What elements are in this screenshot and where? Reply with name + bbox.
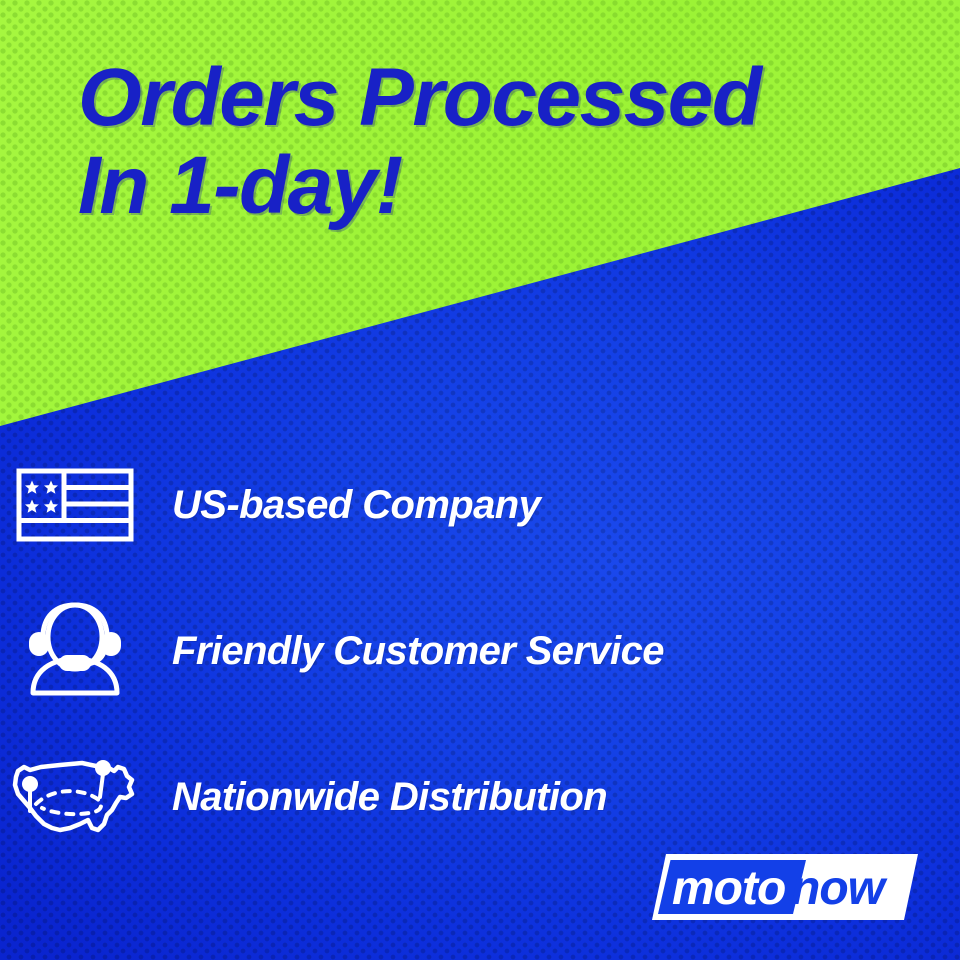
promo-banner: Orders Processed In 1-day! bbox=[0, 0, 960, 960]
feature-row: US-based Company bbox=[0, 432, 960, 578]
feature-label: US-based Company bbox=[172, 483, 540, 528]
motonow-logo[interactable]: moto now bbox=[636, 848, 918, 928]
headline: Orders Processed In 1-day! bbox=[78, 56, 938, 227]
feature-list: US-based Company bbox=[0, 432, 960, 870]
feature-row: Friendly Customer Service bbox=[0, 578, 960, 724]
feature-label: Friendly Customer Service bbox=[172, 629, 664, 674]
headset-icon bbox=[0, 599, 150, 703]
us-flag-icon bbox=[0, 468, 150, 542]
headline-line-2: In 1-day! bbox=[78, 144, 938, 228]
headline-line-1: Orders Processed bbox=[78, 56, 938, 140]
feature-label: Nationwide Distribution bbox=[172, 775, 607, 820]
logo-text-now: now bbox=[791, 862, 888, 915]
logo-text-moto: moto bbox=[672, 862, 785, 915]
us-map-pins-icon bbox=[0, 754, 150, 840]
